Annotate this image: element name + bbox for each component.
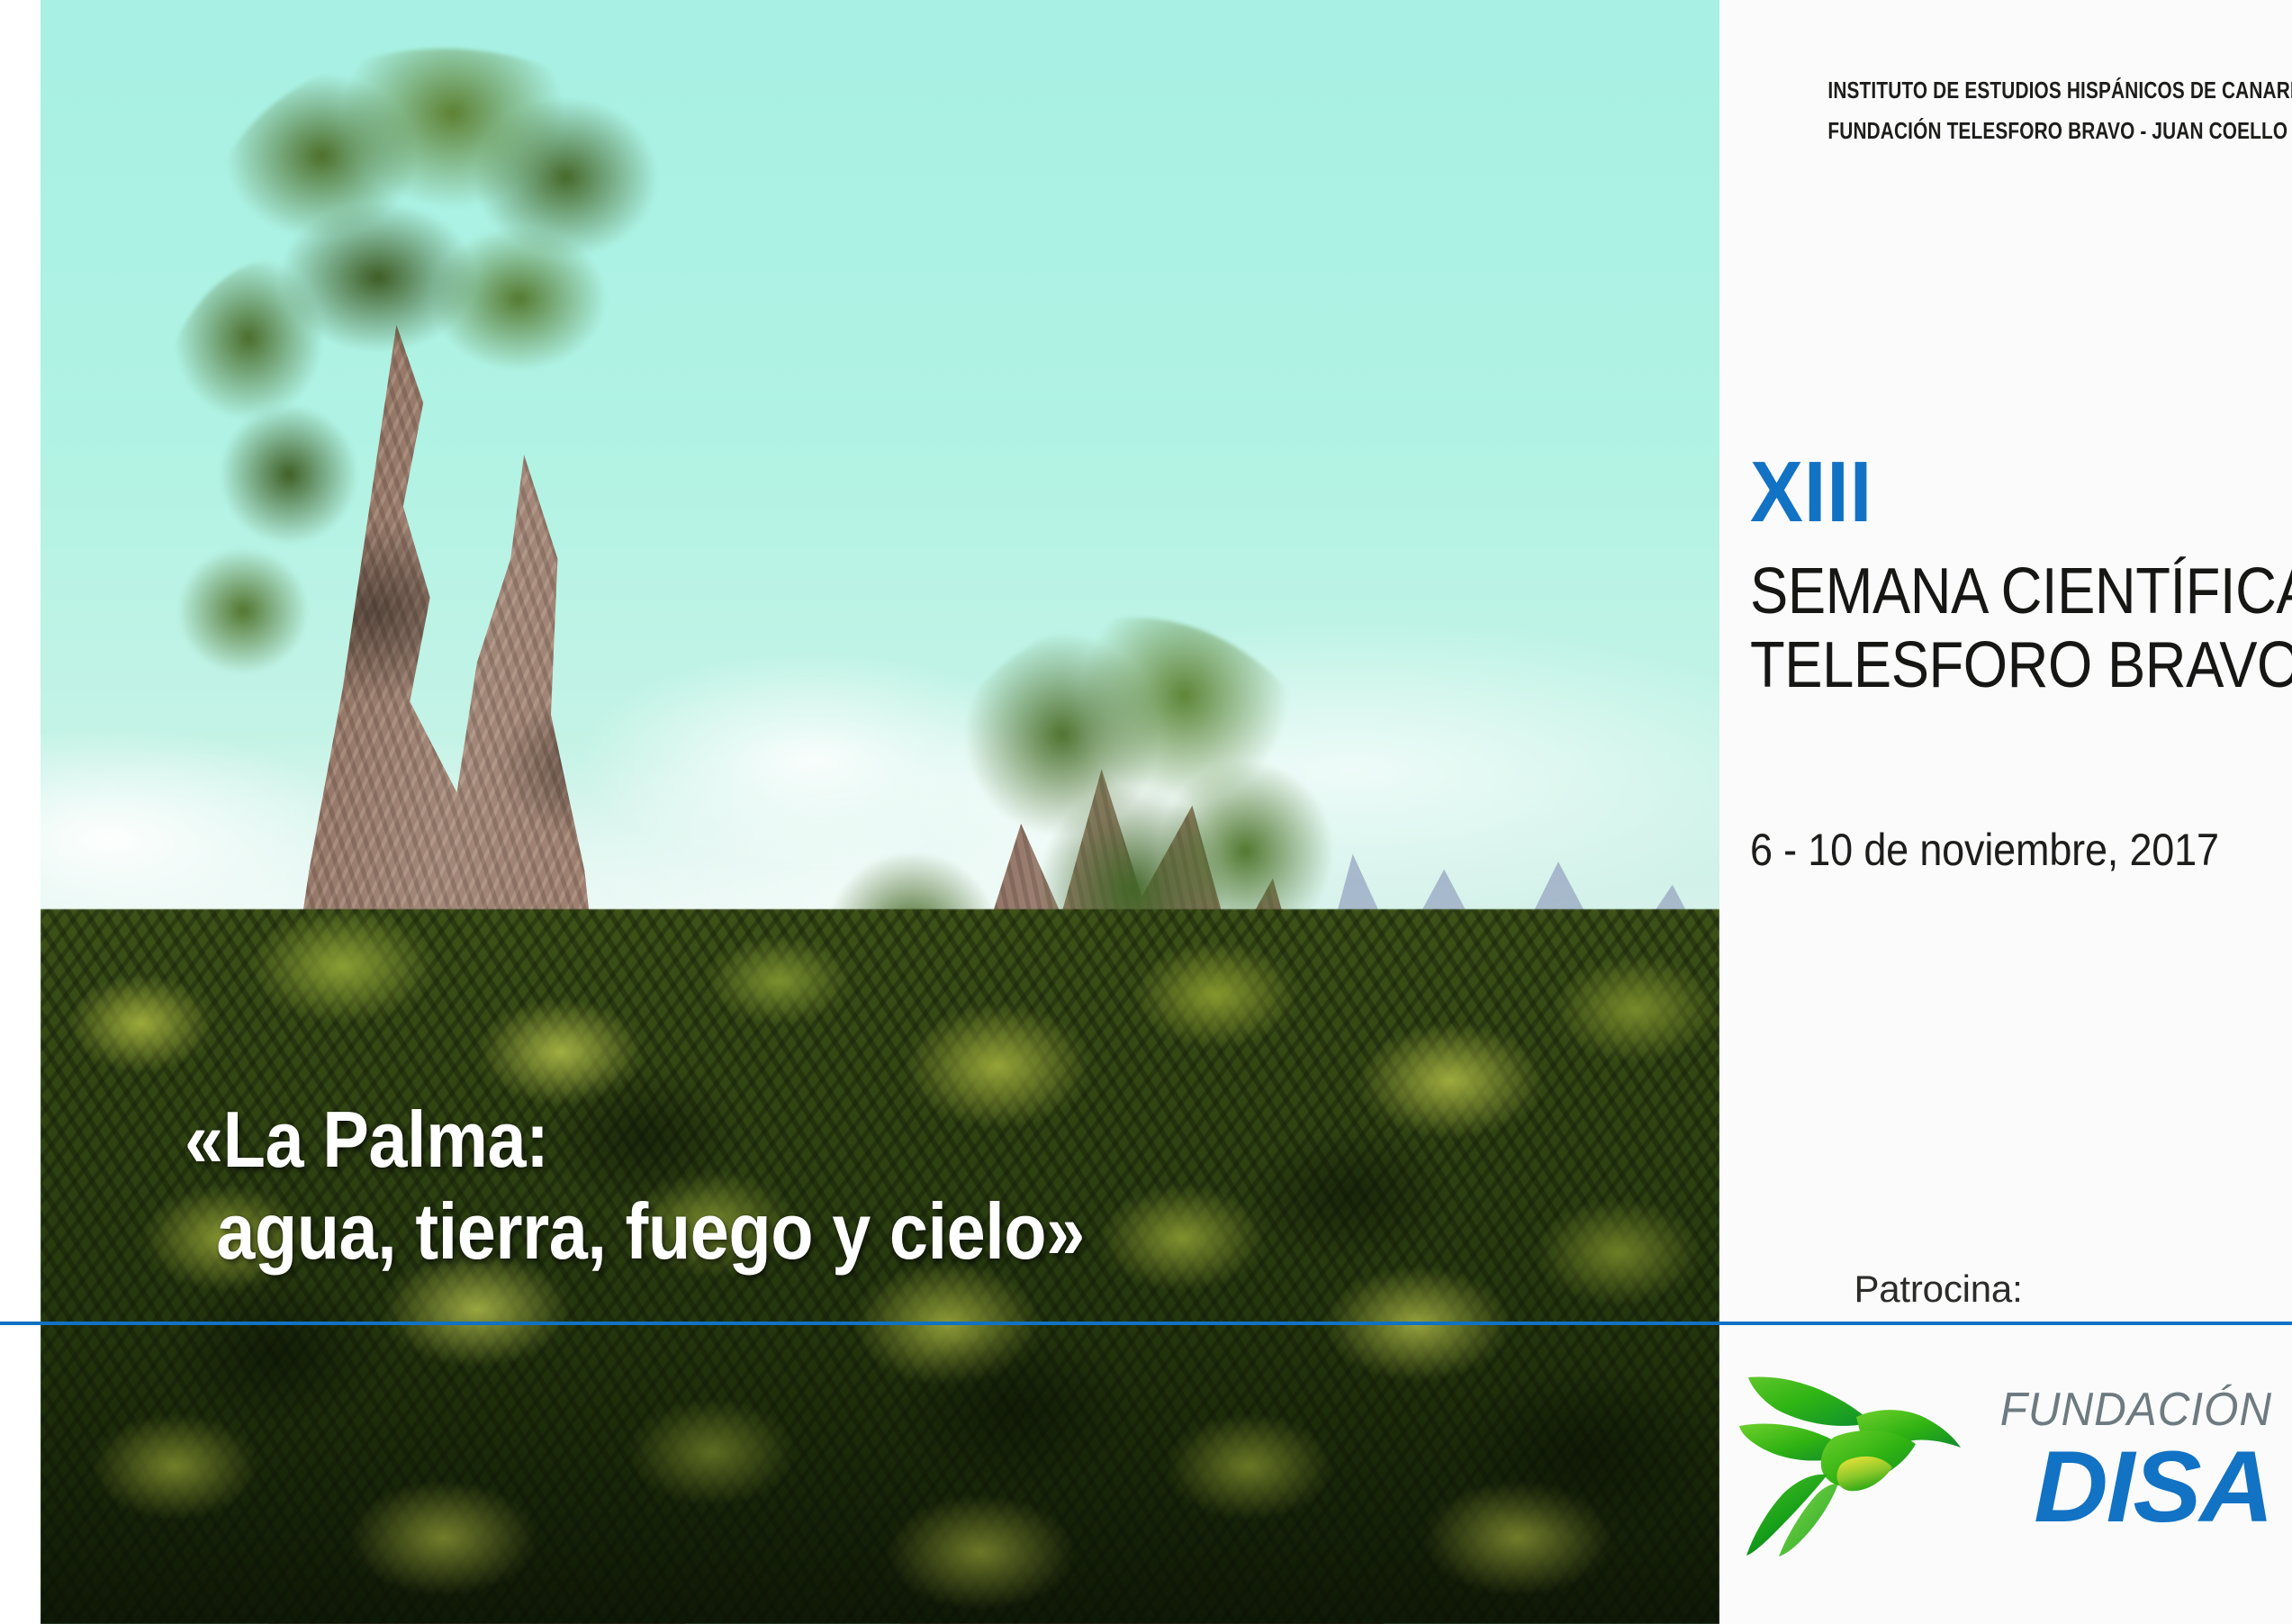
event-title-block: XIII SEMANA CIENTÍFICA TELESFORO BRAVO: [1750, 450, 2274, 702]
organizer-line-2: FUNDACIÓN TELESFORO BRAVO - JUAN COELLO: [1827, 111, 2261, 151]
event-name-line-2: TELESFORO BRAVO: [1750, 628, 2211, 702]
poster-canvas: «La Palma: agua, tierra, fuego y cielo» …: [0, 0, 2292, 1624]
edition-number: XIII: [1750, 450, 2232, 535]
sponsor-wordmark: FUNDACIÓN DISA: [1975, 1386, 2272, 1538]
cover-photograph: «La Palma: agua, tierra, fuego y cielo»: [41, 0, 1719, 1624]
organizer-line-1: INSTITUTO DE ESTUDIOS HISPÁNICOS DE CANA…: [1827, 70, 2261, 111]
theme-title-line1: «La Palma:: [185, 1095, 549, 1184]
organizers-block: INSTITUTO DE ESTUDIOS HISPÁNICOS DE CANA…: [1719, 70, 2292, 150]
photo-pine-canopy-left: [141, 260, 410, 747]
sponsor-label: Patrocina:: [1719, 1268, 2292, 1311]
theme-title-line2: agua, tierra, fuego y cielo»: [185, 1186, 1373, 1277]
sponsor-logo[interactable]: FUNDACIÓN DISA: [1734, 1361, 2274, 1586]
sponsor-name-bottom: DISA: [1969, 1437, 2272, 1538]
info-panel: INSTITUTO DE ESTUDIOS HISPÁNICOS DE CANA…: [1719, 0, 2292, 1624]
sponsor-name-top: FUNDACIÓN: [1990, 1386, 2273, 1433]
event-name-line-1: SEMANA CIENTÍFICA: [1750, 555, 2211, 628]
horizontal-blue-rule: [0, 1322, 2292, 1325]
theme-title: «La Palma: agua, tierra, fuego y cielo»: [185, 1094, 1373, 1277]
hummingbird-icon: [1737, 1370, 1963, 1559]
event-dates: 6 - 10 de noviembre, 2017: [1750, 824, 2219, 876]
